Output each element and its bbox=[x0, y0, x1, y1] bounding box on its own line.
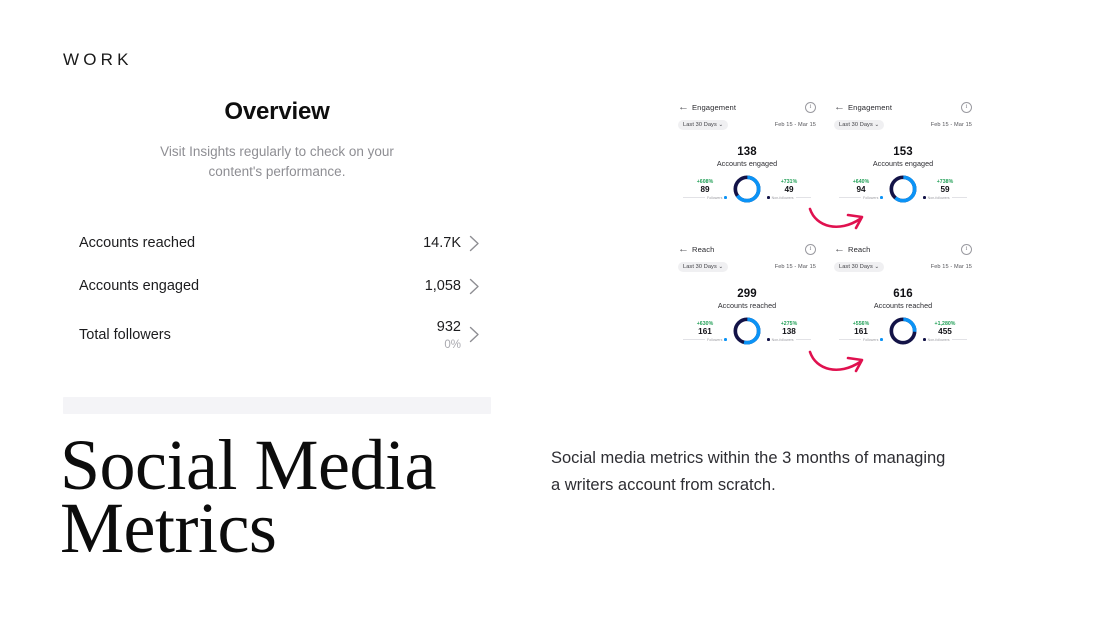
big-metric-caption: Accounts engaged bbox=[828, 159, 978, 168]
stat-legend: Non-followers bbox=[767, 338, 811, 342]
donut-chart bbox=[732, 174, 762, 204]
screenshot-navbar: ← Reach i bbox=[672, 242, 822, 256]
metric-label: Accounts engaged bbox=[79, 278, 425, 294]
metric-values: 1,058 bbox=[425, 277, 461, 295]
date-range-dropdown-label: Last 30 Days bbox=[839, 122, 873, 128]
stat-number: 161 bbox=[854, 327, 868, 336]
stat-non-followers: +738% 59 Non-followers bbox=[923, 179, 967, 200]
body-copy: Social media metrics within the 3 months… bbox=[551, 445, 949, 498]
stat-legend-label: Followers bbox=[707, 338, 722, 342]
stat-non-followers: +731% 49 Non-followers bbox=[767, 179, 811, 200]
big-metric-caption: Accounts reached bbox=[828, 301, 978, 310]
screenshot-navbar: ← Engagement i bbox=[672, 100, 822, 114]
date-range-dropdown-label: Last 30 Days bbox=[683, 264, 717, 270]
screenshot-controls: Last 30 Days ⌄ Feb 15 - Mar 15 bbox=[672, 114, 822, 130]
metric-value: 14.7K bbox=[423, 234, 461, 252]
date-range-dropdown[interactable]: Last 30 Days ⌄ bbox=[834, 262, 884, 272]
big-metric-value: 616 bbox=[828, 288, 978, 300]
stat-number: 161 bbox=[698, 327, 712, 336]
screenshot-navbar: ← Reach i bbox=[828, 242, 978, 256]
metric-label: Accounts reached bbox=[79, 235, 423, 251]
screenshot-engagement-after: ← Engagement i Last 30 Days ⌄ Feb 15 - M… bbox=[828, 100, 978, 215]
big-metric-caption: Accounts reached bbox=[672, 301, 822, 310]
headline-line-2: Metrics bbox=[60, 497, 530, 560]
date-range-dropdown-label: Last 30 Days bbox=[839, 264, 873, 270]
headline: Social Media Metrics bbox=[60, 434, 530, 561]
metric-value: 932 bbox=[437, 318, 461, 336]
metric-values: 14.7K bbox=[423, 234, 461, 252]
legend-dot-icon bbox=[724, 338, 727, 341]
chevron-right-icon[interactable] bbox=[461, 326, 487, 343]
stat-legend: Followers bbox=[683, 196, 727, 200]
stat-legend-label: Followers bbox=[863, 338, 878, 342]
info-icon[interactable]: i bbox=[805, 244, 816, 255]
date-range-text: Feb 15 - Mar 15 bbox=[775, 264, 816, 270]
legend-rule bbox=[952, 339, 967, 340]
legend-dot-icon bbox=[767, 196, 770, 199]
date-range-dropdown[interactable]: Last 30 Days ⌄ bbox=[678, 262, 728, 272]
screenshot-title: Engagement bbox=[692, 103, 805, 112]
insights-panel: Overview Visit Insights regularly to che… bbox=[63, 98, 491, 362]
legend-dot-icon bbox=[923, 196, 926, 199]
donut-chart bbox=[888, 316, 918, 346]
stat-legend-label: Non-followers bbox=[928, 196, 950, 200]
donut-breakdown: +556% 161 Followers +1,280% 455 Non-foll… bbox=[828, 316, 978, 346]
big-metric-value: 138 bbox=[672, 146, 822, 158]
legend-dot-icon bbox=[880, 338, 883, 341]
stat-non-followers: +1,280% 455 Non-followers bbox=[923, 321, 967, 342]
info-icon[interactable]: i bbox=[961, 102, 972, 113]
stat-legend: Non-followers bbox=[923, 338, 967, 342]
legend-rule bbox=[952, 197, 967, 198]
insights-subtitle: Visit Insights regularly to check on you… bbox=[143, 142, 411, 182]
growth-arrow-engagement-icon bbox=[807, 203, 869, 237]
stat-legend-label: Non-followers bbox=[772, 196, 794, 200]
metric-row-accounts-engaged[interactable]: Accounts engaged 1,058 bbox=[63, 265, 491, 308]
chevron-down-icon: ⌄ bbox=[719, 122, 724, 128]
back-arrow-icon[interactable]: ← bbox=[678, 244, 692, 255]
chevron-down-icon: ⌄ bbox=[875, 264, 880, 270]
legend-rule bbox=[683, 197, 705, 198]
big-metric-caption: Accounts engaged bbox=[672, 159, 822, 168]
legend-dot-icon bbox=[724, 196, 727, 199]
legend-dot-icon bbox=[923, 338, 926, 341]
screenshot-reach-after: ← Reach i Last 30 Days ⌄ Feb 15 - Mar 15… bbox=[828, 242, 978, 357]
screenshot-title: Engagement bbox=[848, 103, 961, 112]
date-range-text: Feb 15 - Mar 15 bbox=[931, 122, 972, 128]
metric-label: Total followers bbox=[79, 327, 437, 343]
donut-breakdown: +630% 161 Followers +275% 138 Non-follow… bbox=[672, 316, 822, 346]
chevron-right-icon[interactable] bbox=[461, 278, 487, 295]
stat-legend-label: Non-followers bbox=[772, 338, 794, 342]
info-icon[interactable]: i bbox=[961, 244, 972, 255]
big-metric-value: 299 bbox=[672, 288, 822, 300]
screenshot-reach-before: ← Reach i Last 30 Days ⌄ Feb 15 - Mar 15… bbox=[672, 242, 822, 357]
stat-followers: +640% 94 Followers bbox=[839, 179, 883, 200]
stat-legend: Followers bbox=[839, 196, 883, 200]
stat-legend: Non-followers bbox=[923, 196, 967, 200]
stat-number: 89 bbox=[700, 185, 709, 194]
metric-value: 1,058 bbox=[425, 277, 461, 295]
brand-logo: WORK bbox=[63, 50, 133, 70]
screenshot-title: Reach bbox=[848, 245, 961, 254]
stat-number: 49 bbox=[784, 185, 793, 194]
growth-arrow-reach-icon bbox=[807, 346, 869, 380]
screenshot-engagement-before: ← Engagement i Last 30 Days ⌄ Feb 15 - M… bbox=[672, 100, 822, 215]
back-arrow-icon[interactable]: ← bbox=[834, 102, 848, 113]
stat-followers: +630% 161 Followers bbox=[683, 321, 727, 342]
screenshot-title: Reach bbox=[692, 245, 805, 254]
donut-chart bbox=[732, 316, 762, 346]
donut-breakdown: +608% 89 Followers +731% 49 Non-follower… bbox=[672, 174, 822, 204]
date-range-dropdown[interactable]: Last 30 Days ⌄ bbox=[834, 120, 884, 130]
stat-number: 138 bbox=[782, 327, 796, 336]
stat-number: 94 bbox=[856, 185, 865, 194]
metric-values: 932 0% bbox=[437, 318, 461, 353]
section-divider-bar bbox=[63, 397, 491, 414]
stat-followers: +608% 89 Followers bbox=[683, 179, 727, 200]
screenshot-controls: Last 30 Days ⌄ Feb 15 - Mar 15 bbox=[828, 114, 978, 130]
legend-rule bbox=[796, 197, 811, 198]
date-range-text: Feb 15 - Mar 15 bbox=[931, 264, 972, 270]
stat-followers: +556% 161 Followers bbox=[839, 321, 883, 342]
stat-legend: Followers bbox=[683, 338, 727, 342]
screenshot-controls: Last 30 Days ⌄ Feb 15 - Mar 15 bbox=[828, 256, 978, 272]
chevron-down-icon: ⌄ bbox=[719, 264, 724, 270]
legend-rule bbox=[839, 339, 861, 340]
info-icon[interactable]: i bbox=[805, 102, 816, 113]
legend-rule bbox=[683, 339, 705, 340]
date-range-dropdown-label: Last 30 Days bbox=[683, 122, 717, 128]
page-title: Overview bbox=[63, 98, 491, 126]
legend-dot-icon bbox=[880, 196, 883, 199]
chevron-down-icon: ⌄ bbox=[875, 122, 880, 128]
legend-rule bbox=[796, 339, 811, 340]
stat-legend-label: Followers bbox=[707, 196, 722, 200]
donut-chart bbox=[888, 174, 918, 204]
back-arrow-icon[interactable]: ← bbox=[678, 102, 692, 113]
stat-number: 455 bbox=[938, 327, 952, 336]
metric-delta: 0% bbox=[444, 338, 461, 352]
big-metric-value: 153 bbox=[828, 146, 978, 158]
legend-dot-icon bbox=[767, 338, 770, 341]
stat-non-followers: +275% 138 Non-followers bbox=[767, 321, 811, 342]
legend-rule bbox=[839, 197, 861, 198]
date-range-text: Feb 15 - Mar 15 bbox=[775, 122, 816, 128]
stat-legend: Followers bbox=[839, 338, 883, 342]
back-arrow-icon[interactable]: ← bbox=[834, 244, 848, 255]
date-range-dropdown[interactable]: Last 30 Days ⌄ bbox=[678, 120, 728, 130]
chevron-right-icon[interactable] bbox=[461, 235, 487, 252]
screenshot-controls: Last 30 Days ⌄ Feb 15 - Mar 15 bbox=[672, 256, 822, 272]
screenshot-navbar: ← Engagement i bbox=[828, 100, 978, 114]
metric-row-total-followers[interactable]: Total followers 932 0% bbox=[63, 308, 491, 362]
donut-breakdown: +640% 94 Followers +738% 59 Non-follower… bbox=[828, 174, 978, 204]
stat-number: 59 bbox=[940, 185, 949, 194]
screenshot-grid: ← Engagement i Last 30 Days ⌄ Feb 15 - M… bbox=[672, 100, 992, 370]
stat-legend-label: Followers bbox=[863, 196, 878, 200]
stat-legend-label: Non-followers bbox=[928, 338, 950, 342]
stat-legend: Non-followers bbox=[767, 196, 811, 200]
metric-list: Accounts reached 14.7K Accounts engaged … bbox=[63, 222, 491, 362]
metric-row-accounts-reached[interactable]: Accounts reached 14.7K bbox=[63, 222, 491, 265]
